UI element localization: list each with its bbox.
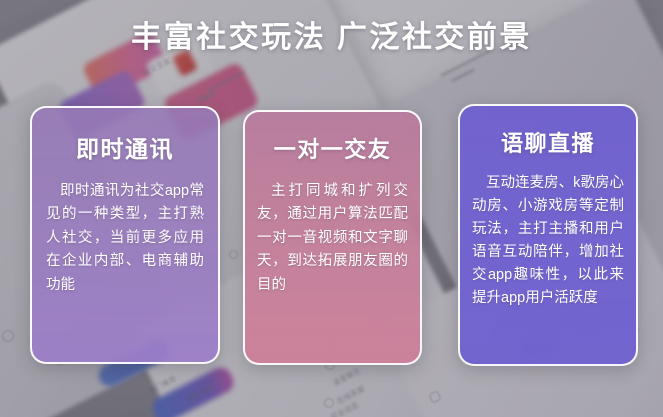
feature-card-voice-chat-live[interactable]: 语聊直播 互动连麦房、k歌房心动房、小游戏房等定制玩法，主打主播和用户语音互动陪… bbox=[458, 104, 638, 366]
card-body-text: 即时通讯为社交app常见的一种类型，主打熟人社交，当前更多应用在企业内部、电商辅… bbox=[46, 180, 204, 297]
feature-card-one-on-one-dating[interactable]: 一对一交友 主打同城和扩列交友，通过用户算法匹配一对一音视频和文字聊天，到达拓展… bbox=[243, 110, 422, 365]
card-heading: 即时通讯 bbox=[32, 130, 218, 164]
promo-banner: 社交交友 热门推荐 智能美颜 语音聊天 在线客服 好友动态 丰富社交玩法 广泛社… bbox=[0, 0, 663, 417]
feature-card-list: 即时通讯 即时通讯为社交app常见的一种类型，主打熟人社交，当前更多应用在企业内… bbox=[0, 0, 663, 417]
card-body-text: 主打同城和扩列交友，通过用户算法匹配一对一音视频和文字聊天，到达拓展朋友圈的目的 bbox=[257, 180, 408, 297]
card-heading: 语聊直播 bbox=[460, 126, 636, 158]
card-body-text: 互动连麦房、k歌房心动房、小游戏房等定制玩法，主打主播和用户语音互动陪伴，增加社… bbox=[472, 172, 624, 309]
card-heading: 一对一交友 bbox=[245, 132, 420, 164]
feature-card-instant-messaging[interactable]: 即时通讯 即时通讯为社交app常见的一种类型，主打熟人社交，当前更多应用在企业内… bbox=[30, 106, 220, 364]
